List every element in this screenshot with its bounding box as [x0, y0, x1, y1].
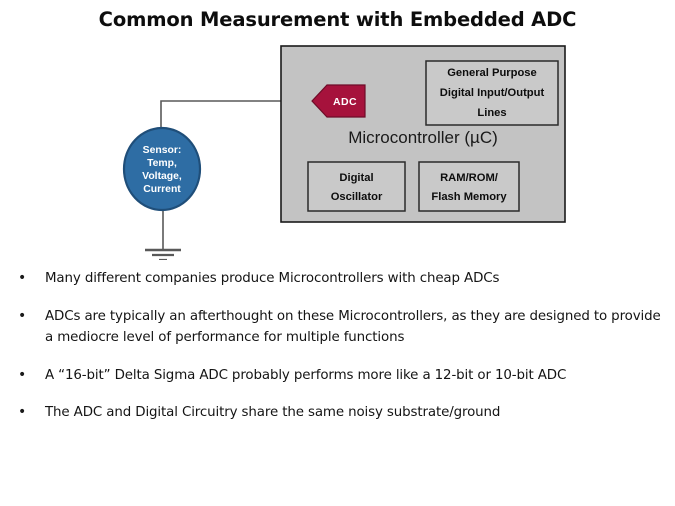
list-item: • Many different companies produce Micro… — [0, 268, 675, 290]
bullet-list: • Many different companies produce Micro… — [0, 268, 675, 440]
sensor-line-1: Sensor: — [143, 145, 182, 156]
ground-symbol — [145, 250, 181, 260]
microcontroller-label: Microcontroller (µC) — [348, 128, 498, 147]
sensor-node: Sensor: Temp, Voltage, Current — [124, 128, 200, 210]
oscillator-line-1: Digital — [339, 172, 373, 184]
bullet-marker: • — [18, 402, 45, 424]
sensor-line-4: Current — [143, 184, 181, 195]
bullet-marker: • — [18, 306, 45, 328]
sensor-line-3: Voltage, — [142, 171, 182, 182]
gpio-line-3: Lines — [477, 107, 506, 119]
oscillator-line-2: Oscillator — [331, 191, 383, 203]
page-title: Common Measurement with Embedded ADC — [0, 8, 675, 31]
bullet-marker: • — [18, 365, 45, 387]
list-item: • A “16-bit” Delta Sigma ADC probably pe… — [0, 365, 675, 387]
adc-label: ADC — [333, 96, 357, 108]
list-item: • ADCs are typically an afterthought on … — [0, 306, 675, 349]
digital-oscillator-block: Digital Oscillator — [308, 162, 405, 211]
gpio-block: General Purpose Digital Input/Output Lin… — [426, 61, 558, 125]
bullet-text: ADCs are typically an afterthought on th… — [45, 306, 661, 349]
embedded-adc-diagram: Microcontroller (µC) General Purpose Dig… — [0, 38, 675, 260]
gpio-line-2: Digital Input/Output — [440, 87, 545, 99]
memory-line-2: Flash Memory — [431, 191, 507, 203]
bullet-text: A “16-bit” Delta Sigma ADC probably perf… — [45, 365, 661, 387]
memory-line-1: RAM/ROM/ — [440, 172, 498, 184]
gpio-line-1: General Purpose — [447, 67, 537, 79]
list-item: • The ADC and Digital Circuitry share th… — [0, 402, 675, 424]
memory-block: RAM/ROM/ Flash Memory — [419, 162, 519, 211]
bullet-text: The ADC and Digital Circuitry share the … — [45, 402, 661, 424]
sensor-line-2: Temp, — [147, 158, 177, 169]
bullet-marker: • — [18, 268, 45, 290]
bullet-text: Many different companies produce Microco… — [45, 268, 661, 290]
